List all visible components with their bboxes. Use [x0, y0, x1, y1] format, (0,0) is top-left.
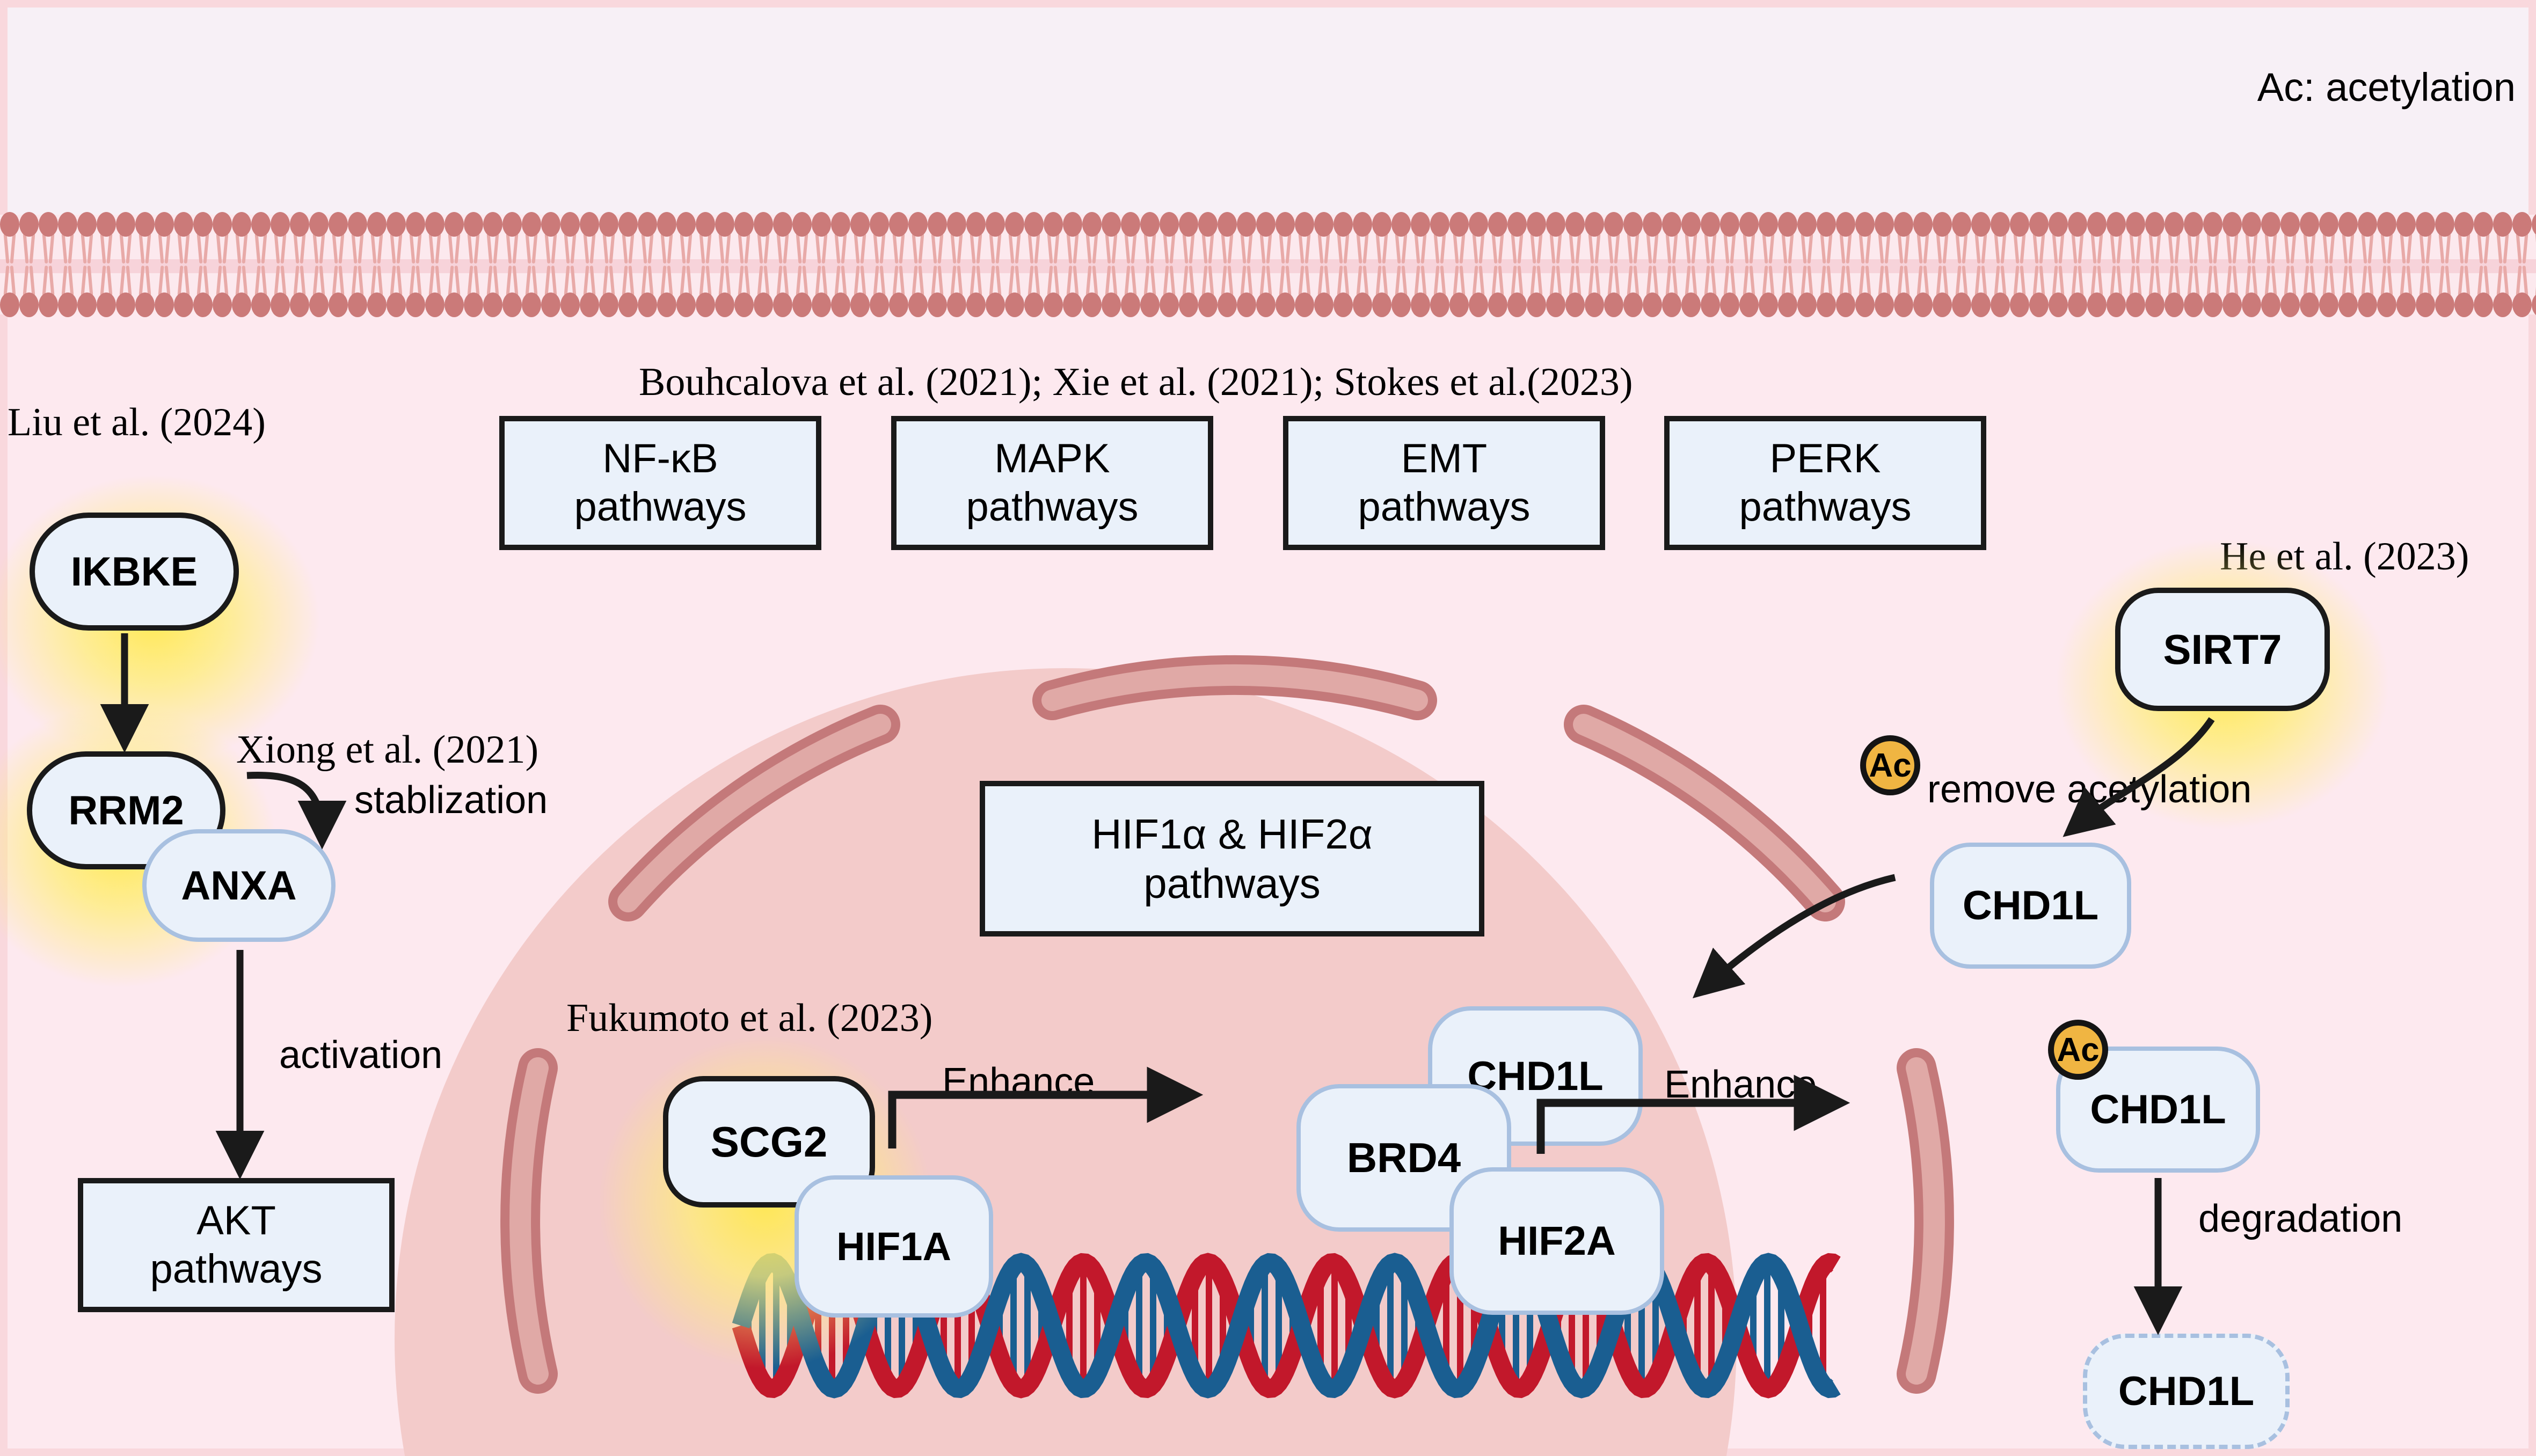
phospholipid-lower	[2242, 265, 2261, 317]
phospholipid-lower	[116, 265, 135, 317]
phospholipid-upper	[290, 212, 309, 265]
phospholipid-upper	[2010, 212, 2029, 265]
phospholipid-upper	[1140, 212, 1160, 265]
phospholipid-upper	[2184, 212, 2203, 265]
pathway-box-mapk-line1: MAPK	[966, 435, 1138, 483]
phospholipid-lower	[1449, 265, 1469, 317]
phospholipid-upper	[2532, 212, 2536, 265]
phospholipid-upper	[1449, 212, 1469, 265]
phospholipid-lower	[2261, 265, 2280, 317]
phospholipid-lower	[1121, 265, 1140, 317]
phospholipid-upper	[1391, 212, 1411, 265]
phospholipid-upper	[174, 212, 193, 265]
phospholipid-upper	[1237, 212, 1256, 265]
phospholipid-upper	[1913, 212, 1933, 265]
phospholipid-upper	[97, 212, 116, 265]
phospholipid-upper	[2512, 212, 2532, 265]
phospholipid-upper	[522, 212, 541, 265]
phospholipid-lower	[928, 265, 947, 317]
phospholipid-lower	[39, 265, 58, 317]
phospholipid-lower	[77, 265, 97, 317]
phospholipid-upper	[850, 212, 870, 265]
phospholipid-lower	[2222, 265, 2242, 317]
phospholipid-lower	[908, 265, 928, 317]
phospholipid-lower	[2300, 265, 2319, 317]
phospholipid-lower	[1469, 265, 1488, 317]
phospholipid-upper	[1024, 212, 1044, 265]
phospholipid-lower	[135, 265, 155, 317]
phospholipid-lower	[541, 265, 560, 317]
phospholipid-upper	[2454, 212, 2474, 265]
ac-badge-free: Ac	[1860, 735, 1920, 795]
phospholipid-lower	[251, 265, 271, 317]
phospholipid-lower	[522, 265, 541, 317]
phospholipid-lower	[1237, 265, 1256, 317]
protein-node-chd1l-degraded[interactable]: CHD1L	[2083, 1334, 2290, 1449]
phospholipid-lower	[1140, 265, 1160, 317]
phospholipid-lower	[1005, 265, 1024, 317]
phospholipid-upper	[2029, 212, 2049, 265]
phospholipid-lower	[2165, 265, 2184, 317]
phospholipid-upper	[773, 212, 792, 265]
phospholipid-lower	[1778, 265, 1797, 317]
pathway-box-nfkb[interactable]: NF-κB pathways	[499, 416, 821, 550]
phospholipid-lower	[1662, 265, 1681, 317]
phospholipid-lower	[1527, 265, 1546, 317]
citation-fukumoto: Fukumoto et al. (2023)	[566, 996, 932, 1041]
phospholipid-lower	[1314, 265, 1333, 317]
phospholipid-lower	[1082, 265, 1102, 317]
protein-node-ikbke[interactable]: IKBKE	[30, 513, 239, 631]
phospholipid-upper	[2319, 212, 2338, 265]
plasma-membrane	[0, 212, 2536, 317]
phospholipid-lower	[2338, 265, 2358, 317]
phospholipid-lower	[676, 265, 696, 317]
phospholipid-lower	[97, 265, 116, 317]
protein-node-sirt7[interactable]: SIRT7	[2115, 588, 2330, 711]
phospholipid-lower	[483, 265, 502, 317]
phospholipid-lower	[1643, 265, 1662, 317]
phospholipid-upper	[541, 212, 560, 265]
phospholipid-lower	[2184, 265, 2203, 317]
phospholipid-upper	[2068, 212, 2087, 265]
phospholipid-upper	[232, 212, 251, 265]
citation-he: He et al. (2023)	[2220, 534, 2469, 580]
phospholipid-upper	[657, 212, 676, 265]
phospholipid-lower	[715, 265, 734, 317]
phospholipid-upper	[1643, 212, 1662, 265]
phospholipid-lower	[1720, 265, 1739, 317]
phospholipid-upper	[1971, 212, 1991, 265]
phospholipid-upper	[2203, 212, 2222, 265]
phospholipid-upper	[618, 212, 638, 265]
phospholipid-upper	[1759, 212, 1778, 265]
phospholipid-upper	[1875, 212, 1894, 265]
phospholipid-upper	[1198, 212, 1218, 265]
pathway-box-akt-line2: pathways	[150, 1245, 322, 1293]
phospholipid-lower	[348, 265, 367, 317]
pathway-box-perk-line2: pathways	[1739, 483, 1911, 531]
phospholipid-lower	[1585, 265, 1604, 317]
phospholipid-upper	[1546, 212, 1565, 265]
phospholipid-upper	[986, 212, 1005, 265]
phospholipid-upper	[1836, 212, 1855, 265]
phospholipid-upper	[734, 212, 754, 265]
phospholipid-upper	[580, 212, 599, 265]
phospholipid-lower	[309, 265, 329, 317]
phospholipid-lower	[2377, 265, 2396, 317]
pathway-box-emt[interactable]: EMT pathways	[1283, 416, 1605, 550]
phospholipid-upper	[2107, 212, 2126, 265]
phospholipid-upper	[1256, 212, 1276, 265]
edge-label-stabilization: stablization	[354, 778, 548, 822]
phospholipid-lower	[1391, 265, 1411, 317]
phospholipid-lower	[502, 265, 522, 317]
phospholipid-upper	[2242, 212, 2261, 265]
phospholipid-upper	[928, 212, 947, 265]
phospholipid-upper	[1894, 212, 1913, 265]
phospholipid-lower	[1160, 265, 1179, 317]
phospholipid-lower	[792, 265, 812, 317]
phospholipid-lower	[754, 265, 773, 317]
phospholipid-lower	[2010, 265, 2029, 317]
phospholipid-upper	[1527, 212, 1546, 265]
pathway-box-akt[interactable]: AKT pathways	[78, 1178, 395, 1312]
phospholipid-lower	[2107, 265, 2126, 317]
phospholipid-upper	[1430, 212, 1449, 265]
phospholipid-upper	[1333, 212, 1353, 265]
phospholipid-lower	[406, 265, 425, 317]
phospholipid-upper	[2377, 212, 2396, 265]
phospholipid-upper	[2416, 212, 2435, 265]
phospholipid-lower	[2029, 265, 2049, 317]
citation-xiong: Xiong et al. (2021)	[236, 727, 538, 773]
phospholipid-upper	[812, 212, 831, 265]
phospholipid-lower	[1333, 265, 1353, 317]
phospholipid-lower	[0, 265, 19, 317]
edge-label-degradation: degradation	[2198, 1197, 2402, 1241]
phospholipid-lower	[2319, 265, 2338, 317]
phospholipid-upper	[2300, 212, 2319, 265]
phospholipid-lower	[2203, 265, 2222, 317]
phospholipid-upper	[425, 212, 444, 265]
phospholipid-upper	[387, 212, 406, 265]
phospholipid-upper	[193, 212, 213, 265]
phospholipid-lower	[174, 265, 193, 317]
pathway-box-perk[interactable]: PERK pathways	[1664, 416, 1986, 550]
phospholipid-lower	[986, 265, 1005, 317]
phospholipid-upper	[1102, 212, 1121, 265]
phospholipid-lower	[58, 265, 77, 317]
pathway-box-perk-line1: PERK	[1739, 435, 1911, 483]
phospholipid-upper	[2358, 212, 2377, 265]
phospholipid-upper	[1121, 212, 1140, 265]
phospholipid-lower	[889, 265, 908, 317]
phospholipid-lower	[2068, 265, 2087, 317]
phospholipid-upper	[2493, 212, 2512, 265]
phospholipid-upper	[2396, 212, 2416, 265]
phospholipid-lower	[1179, 265, 1198, 317]
phospholipid-upper	[1082, 212, 1102, 265]
phospholipid-upper	[1044, 212, 1063, 265]
phospholipid-upper	[1681, 212, 1701, 265]
phospholipid-upper	[251, 212, 271, 265]
phospholipid-upper	[1604, 212, 1623, 265]
citation-liu: Liu et al. (2024)	[8, 400, 266, 445]
phospholipid-lower	[155, 265, 174, 317]
phospholipid-upper	[1507, 212, 1527, 265]
phospholipid-upper	[1276, 212, 1295, 265]
phospholipid-lower	[425, 265, 444, 317]
phospholipid-upper	[2338, 212, 2358, 265]
phospholipid-upper	[831, 212, 850, 265]
phospholipid-upper	[0, 212, 19, 265]
phospholipid-upper	[2126, 212, 2145, 265]
phospholipid-lower	[1430, 265, 1449, 317]
ac-badge-on-chd1l: Ac	[2048, 1020, 2108, 1080]
protein-node-chd1l-cytoplasm[interactable]: CHD1L	[1930, 843, 2131, 969]
phospholipid-lower	[2474, 265, 2493, 317]
pathway-box-hif-line1: HIF1α & HIF2α	[1091, 809, 1373, 859]
phospholipid-upper	[2280, 212, 2300, 265]
phospholipid-upper	[1933, 212, 1952, 265]
phospholipid-lower	[1276, 265, 1295, 317]
phospholipid-lower	[464, 265, 483, 317]
phospholipid-upper	[329, 212, 348, 265]
phospholipid-lower	[580, 265, 599, 317]
protein-node-hif1a[interactable]: HIF1A	[795, 1175, 993, 1318]
phospholipid-lower	[870, 265, 889, 317]
phospholipid-lower	[1836, 265, 1855, 317]
phospholipid-upper	[696, 212, 715, 265]
phospholipid-lower	[19, 265, 39, 317]
phospholipid-upper	[1797, 212, 1817, 265]
phospholipid-upper	[213, 212, 232, 265]
pathway-box-mapk-line2: pathways	[966, 483, 1138, 531]
phospholipid-lower	[2512, 265, 2532, 317]
diagram-canvas: Ac: acetylation Bouhcalova et al. (2021)…	[0, 0, 2536, 1456]
phospholipid-lower	[1507, 265, 1527, 317]
phospholipid-upper	[2087, 212, 2107, 265]
phospholipid-upper	[1218, 212, 1237, 265]
phospholipid-lower	[1855, 265, 1875, 317]
pathway-box-hif[interactable]: HIF1α & HIF2α pathways	[980, 781, 1484, 936]
phospholipid-upper	[155, 212, 174, 265]
phospholipid-lower	[1991, 265, 2010, 317]
edge-label-activation: activation	[279, 1033, 442, 1077]
phospholipid-lower	[2493, 265, 2512, 317]
phospholipid-lower	[1295, 265, 1314, 317]
phospholipid-upper	[560, 212, 580, 265]
pathway-box-akt-line1: AKT	[150, 1197, 322, 1245]
phospholipid-lower	[2358, 265, 2377, 317]
phospholipid-upper	[39, 212, 58, 265]
phospholipid-lower	[1044, 265, 1063, 317]
phospholipid-lower	[1218, 265, 1237, 317]
phospholipid-lower	[1681, 265, 1701, 317]
phospholipid-lower	[1372, 265, 1391, 317]
phospholipid-lower	[831, 265, 850, 317]
phospholipid-upper	[966, 212, 986, 265]
phospholipid-upper	[1160, 212, 1179, 265]
pathway-box-emt-line1: EMT	[1358, 435, 1530, 483]
phospholipid-upper	[947, 212, 966, 265]
phospholipid-upper	[135, 212, 155, 265]
phospholipid-lower	[271, 265, 290, 317]
phospholipid-upper	[348, 212, 367, 265]
phospholipid-upper	[2222, 212, 2242, 265]
pathway-box-hif-line2: pathways	[1091, 859, 1373, 908]
phospholipid-upper	[77, 212, 97, 265]
phospholipid-lower	[773, 265, 792, 317]
phospholipid-upper	[754, 212, 773, 265]
phospholipid-lower	[638, 265, 657, 317]
phospholipid-lower	[1063, 265, 1082, 317]
phospholipid-lower	[1411, 265, 1430, 317]
phospholipid-lower	[329, 265, 348, 317]
phospholipid-upper	[908, 212, 928, 265]
phospholipid-lower	[618, 265, 638, 317]
phospholipid-upper	[1179, 212, 1198, 265]
phospholipid-lower	[1488, 265, 1507, 317]
phospholipid-upper	[870, 212, 889, 265]
pathway-box-nfkb-line1: NF-κB	[574, 435, 746, 483]
phospholipid-upper	[502, 212, 522, 265]
phospholipid-upper	[1701, 212, 1720, 265]
phospholipid-upper	[2435, 212, 2454, 265]
extracellular-region	[0, 0, 2536, 215]
phospholipid-lower	[1565, 265, 1585, 317]
phospholipid-upper	[1565, 212, 1585, 265]
phospholipid-lower	[1894, 265, 1913, 317]
phospholipid-upper	[406, 212, 425, 265]
phospholipid-lower	[2416, 265, 2435, 317]
phospholipid-lower	[696, 265, 715, 317]
phospholipid-lower	[2049, 265, 2068, 317]
phospholipid-lower	[947, 265, 966, 317]
phospholipid-upper	[1488, 212, 1507, 265]
phospholipid-upper	[1411, 212, 1430, 265]
phospholipid-lower	[1971, 265, 1991, 317]
phospholipid-upper	[792, 212, 812, 265]
edge-label-enhance-left: Enhance	[942, 1060, 1095, 1104]
phospholipid-lower	[1198, 265, 1218, 317]
phospholipid-upper	[309, 212, 329, 265]
phospholipid-lower	[2435, 265, 2454, 317]
phospholipid-upper	[1778, 212, 1797, 265]
phospholipid-lower	[1739, 265, 1759, 317]
phospholipid-lower	[850, 265, 870, 317]
phospholipid-lower	[1875, 265, 1894, 317]
phospholipid-lower	[812, 265, 831, 317]
phospholipid-lower	[290, 265, 309, 317]
phospholipid-lower	[1604, 265, 1623, 317]
phospholipid-upper	[889, 212, 908, 265]
protein-node-hif2a[interactable]: HIF2A	[1449, 1167, 1664, 1315]
phospholipid-upper	[1005, 212, 1024, 265]
phospholipid-upper	[1585, 212, 1604, 265]
phospholipid-upper	[2474, 212, 2493, 265]
phospholipid-upper	[444, 212, 464, 265]
phospholipid-upper	[2261, 212, 2280, 265]
phospholipid-lower	[560, 265, 580, 317]
edge-label-remove-acetylation: remove acetylation	[1927, 767, 2251, 811]
phospholipid-upper	[1662, 212, 1681, 265]
phospholipid-upper	[1739, 212, 1759, 265]
phospholipid-upper	[1063, 212, 1082, 265]
phospholipid-lower	[1256, 265, 1276, 317]
phospholipid-upper	[1314, 212, 1333, 265]
phospholipid-lower	[657, 265, 676, 317]
phospholipid-upper	[483, 212, 502, 265]
phospholipid-lower	[1933, 265, 1952, 317]
pathway-box-nfkb-line2: pathways	[574, 483, 746, 531]
phospholipid-upper	[2145, 212, 2165, 265]
phospholipid-lower	[2126, 265, 2145, 317]
phospholipid-upper	[599, 212, 618, 265]
phospholipid-upper	[1817, 212, 1836, 265]
phospholipid-upper	[1623, 212, 1643, 265]
phospholipid-lower	[193, 265, 213, 317]
protein-node-anxa[interactable]: ANXA	[142, 829, 336, 942]
phospholipid-lower	[599, 265, 618, 317]
legend-acetylation: Ac: acetylation	[2257, 64, 2516, 110]
phospholipid-lower	[1913, 265, 1933, 317]
citation-top-row: Bouhcalova et al. (2021); Xie et al. (20…	[639, 360, 1633, 405]
phospholipid-lower	[2280, 265, 2300, 317]
phospholipid-upper	[271, 212, 290, 265]
phospholipid-lower	[2145, 265, 2165, 317]
phospholipid-upper	[638, 212, 657, 265]
phospholipid-lower	[1353, 265, 1372, 317]
phospholipid-lower	[2087, 265, 2107, 317]
phospholipid-upper	[116, 212, 135, 265]
phospholipid-lower	[2532, 265, 2536, 317]
phospholipid-lower	[1759, 265, 1778, 317]
phospholipid-upper	[1372, 212, 1391, 265]
pathway-box-emt-line2: pathways	[1358, 483, 1530, 531]
phospholipid-lower	[1952, 265, 1971, 317]
phospholipid-lower	[444, 265, 464, 317]
phospholipid-lower	[1623, 265, 1643, 317]
phospholipid-lower	[1797, 265, 1817, 317]
phospholipid-upper	[1353, 212, 1372, 265]
phospholipid-upper	[1720, 212, 1739, 265]
phospholipid-lower	[1024, 265, 1044, 317]
phospholipid-upper	[2049, 212, 2068, 265]
phospholipid-lower	[2396, 265, 2416, 317]
pathway-box-mapk[interactable]: MAPK pathways	[891, 416, 1213, 550]
phospholipid-lower	[232, 265, 251, 317]
phospholipid-upper	[1855, 212, 1875, 265]
phospholipid-upper	[2165, 212, 2184, 265]
phospholipid-upper	[676, 212, 696, 265]
phospholipid-upper	[367, 212, 387, 265]
phospholipid-upper	[1469, 212, 1488, 265]
phospholipid-upper	[58, 212, 77, 265]
phospholipid-lower	[1701, 265, 1720, 317]
phospholipid-upper	[715, 212, 734, 265]
phospholipid-lower	[367, 265, 387, 317]
edge-label-enhance-right: Enhance	[1664, 1063, 1817, 1107]
phospholipid-lower	[966, 265, 986, 317]
phospholipid-upper	[1295, 212, 1314, 265]
phospholipid-lower	[387, 265, 406, 317]
phospholipid-upper	[464, 212, 483, 265]
phospholipid-lower	[2454, 265, 2474, 317]
phospholipid-lower	[1546, 265, 1565, 317]
phospholipid-upper	[1991, 212, 2010, 265]
